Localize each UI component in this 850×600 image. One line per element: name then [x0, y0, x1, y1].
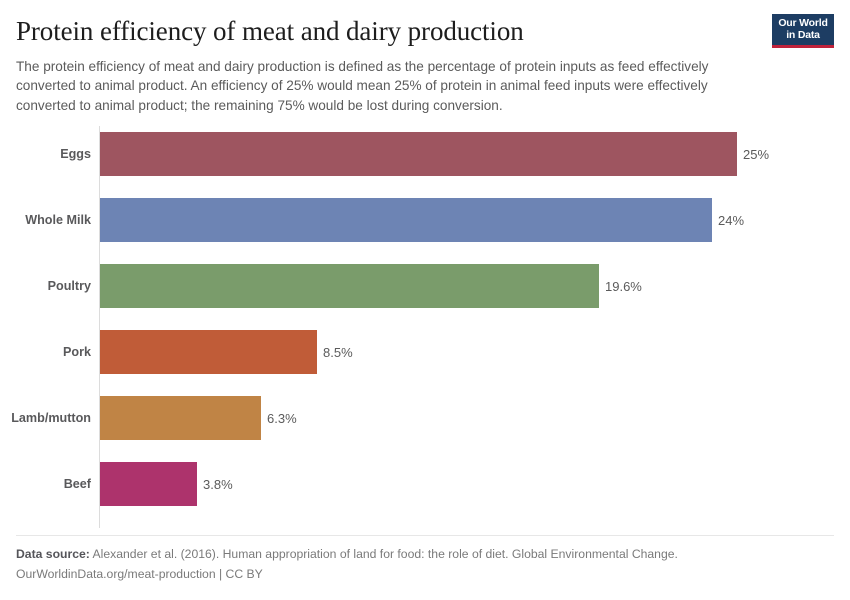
- bar-rect[interactable]: [100, 132, 737, 176]
- bar-value-label: 8.5%: [317, 330, 353, 374]
- bar-row[interactable]: Pork8.5%: [0, 330, 850, 374]
- bar-category-label: Whole Milk: [0, 198, 91, 242]
- owid-logo-line2: in Data: [777, 30, 829, 42]
- data-source-label: Data source:: [16, 547, 90, 561]
- bar-category-label: Poultry: [0, 264, 91, 308]
- attribution-link[interactable]: OurWorldinData.org/meat-production | CC …: [16, 565, 834, 585]
- page-title: Protein efficiency of meat and dairy pro…: [16, 12, 834, 47]
- bar-rect[interactable]: [100, 264, 599, 308]
- footer-divider: [16, 535, 834, 536]
- chart-subtitle: The protein efficiency of meat and dairy…: [16, 57, 756, 115]
- bar-value-label: 3.8%: [197, 462, 233, 506]
- owid-logo[interactable]: Our World in Data: [772, 14, 834, 48]
- bar-value-label: 19.6%: [599, 264, 642, 308]
- bar-row[interactable]: Lamb/mutton6.3%: [0, 396, 850, 440]
- bar-row[interactable]: Eggs25%: [0, 132, 850, 176]
- chart-page: Protein efficiency of meat and dairy pro…: [0, 0, 850, 600]
- bar-category-label: Eggs: [0, 132, 91, 176]
- bar-category-label: Pork: [0, 330, 91, 374]
- bar-row[interactable]: Poultry19.6%: [0, 264, 850, 308]
- bar-value-label: 6.3%: [261, 396, 297, 440]
- bar-value-label: 24%: [712, 198, 744, 242]
- chart-footer: Data source: Alexander et al. (2016). Hu…: [16, 545, 834, 585]
- bar-rect[interactable]: [100, 198, 712, 242]
- bar-row[interactable]: Beef3.8%: [0, 462, 850, 506]
- bar-rect[interactable]: [100, 330, 317, 374]
- bar-category-label: Beef: [0, 462, 91, 506]
- data-source-text: Alexander et al. (2016). Human appropria…: [93, 547, 678, 561]
- bar-rect[interactable]: [100, 462, 197, 506]
- chart-header: Protein efficiency of meat and dairy pro…: [16, 12, 834, 115]
- bar-chart: Eggs25%Whole Milk24%Poultry19.6%Pork8.5%…: [0, 126, 850, 530]
- bar-value-label: 25%: [737, 132, 769, 176]
- owid-logo-line1: Our World: [777, 18, 829, 30]
- bar-row[interactable]: Whole Milk24%: [0, 198, 850, 242]
- bar-category-label: Lamb/mutton: [0, 396, 91, 440]
- bar-rect[interactable]: [100, 396, 261, 440]
